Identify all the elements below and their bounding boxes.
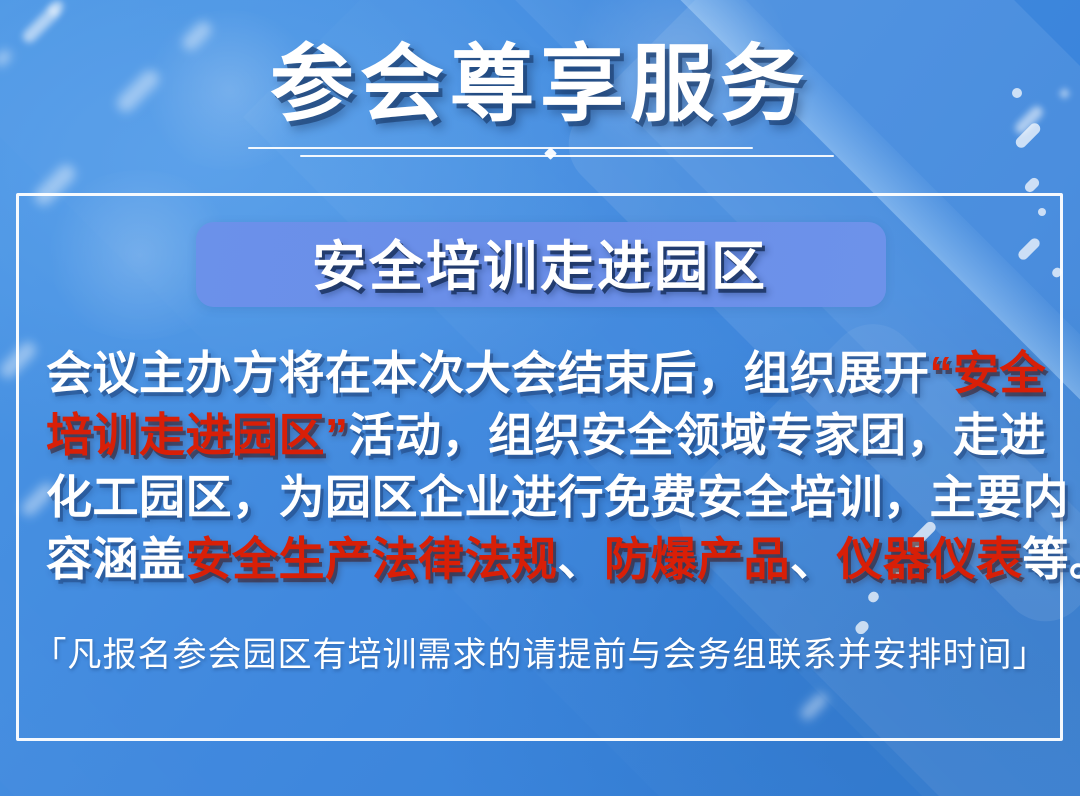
body-line: 培训走进园区”活动，组织安全领域专家团，走进 bbox=[46, 404, 1034, 466]
body-paragraph: 会议主办方将在本次大会结束后，组织展开“安全 培训走进园区”活动，组织安全领域专… bbox=[46, 342, 1034, 590]
body-plain-text: 容涵盖 bbox=[46, 533, 186, 585]
body-plain-text: 会议主办方将在本次大会结束后，组织展开 bbox=[46, 347, 930, 399]
diamond-marker-icon bbox=[544, 147, 557, 160]
footnote-text: 「凡报名参会园区有培训需求的请提前与会务组联系并安排时间」 bbox=[0, 632, 1080, 678]
body-highlight-text: 培训走进园区” bbox=[46, 409, 349, 461]
divider-line-top bbox=[248, 147, 753, 149]
promo-poster: 参会尊享服务 安全培训走进园区 会议主办方将在本次大会结束后，组织展开“安全 培… bbox=[0, 0, 1080, 796]
divider-line-bottom bbox=[300, 155, 834, 157]
body-plain-text: 等。 bbox=[1023, 533, 1080, 585]
body-plain-text: 化工园区，为园区企业进行免费安全培训，主要内 bbox=[46, 471, 1069, 523]
body-highlight-text: 防爆产品 bbox=[604, 533, 790, 585]
subtitle-label: 安全培训走进园区 bbox=[0, 237, 1080, 297]
body-plain-text: 、 bbox=[790, 533, 837, 585]
body-line: 会议主办方将在本次大会结束后，组织展开“安全 bbox=[46, 342, 1034, 404]
body-plain-text: 、 bbox=[558, 533, 605, 585]
body-highlight-text: “安全 bbox=[930, 347, 1047, 399]
body-plain-text: 活动，组织安全领域专家团，走进 bbox=[349, 409, 1047, 461]
page-title: 参会尊享服务 bbox=[0, 36, 1080, 132]
body-highlight-text: 仪器仪表 bbox=[837, 533, 1023, 585]
title-divider bbox=[248, 142, 834, 166]
body-line: 化工园区，为园区企业进行免费安全培训，主要内 bbox=[46, 466, 1034, 528]
body-line: 容涵盖安全生产法律法规、防爆产品、仪器仪表等。 bbox=[46, 528, 1034, 590]
body-highlight-text: 安全生产法律法规 bbox=[186, 533, 558, 585]
